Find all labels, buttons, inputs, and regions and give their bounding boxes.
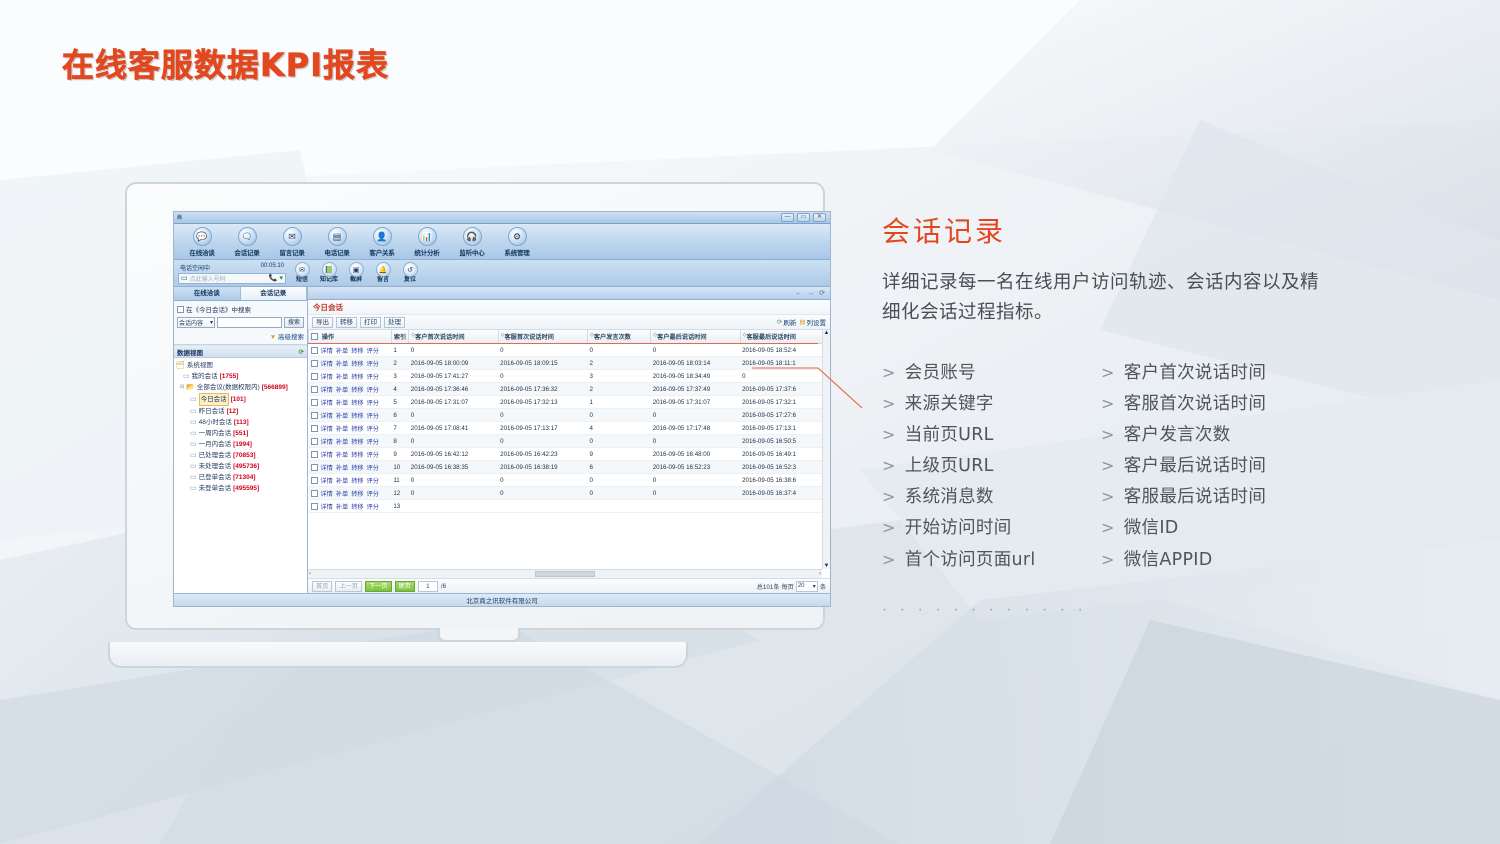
laptop-hinge xyxy=(438,628,520,642)
nav-label: 在线洽谈 xyxy=(180,247,224,257)
row-action-3[interactable]: 评分 xyxy=(367,372,379,381)
cell-actions[interactable]: 详情补单转移评分 xyxy=(309,474,392,487)
feature-label: 微信ID xyxy=(1124,513,1179,543)
row-checkbox[interactable] xyxy=(311,399,318,406)
row-action-3[interactable]: 评分 xyxy=(367,411,379,420)
nav-item-statistics[interactable]: 📊 统计分析 xyxy=(405,226,449,257)
tool-label: 截屏 xyxy=(344,277,368,284)
nav-label: 系统管理 xyxy=(495,247,539,257)
screenshot-button[interactable]: ▣ 截屏 xyxy=(344,262,368,284)
column-label: 客服首次说话时间 xyxy=(505,334,555,341)
main-panel: ← → ⟳ 今日会话 导出 转移 打印 处理 ⟳ xyxy=(308,287,830,593)
row-action-0[interactable]: 详情 xyxy=(321,424,333,433)
back-icon[interactable]: ← xyxy=(795,290,802,297)
tree-node-label: 今日会话 xyxy=(199,393,229,406)
feature-item-right: >客服首次说话时间 xyxy=(1101,389,1402,419)
tree-node-my-sessions[interactable]: ▭ 我的会话 [1755] xyxy=(176,371,305,382)
chat-bubble-icon: 💬 xyxy=(193,227,212,246)
cell-agent-first-speak: 2016-09-05 17:32:13 xyxy=(498,396,587,409)
feature-label: 微信APPID xyxy=(1124,545,1213,575)
horizontal-scrollbar[interactable]: ‹ › xyxy=(308,569,822,578)
row-action-3[interactable]: 评分 xyxy=(367,450,379,459)
feature-label: 会员账号 xyxy=(905,358,976,388)
tree-node-label: 全部会议(数据权限内) xyxy=(197,382,260,393)
call-timer: 00:05:10 xyxy=(261,263,284,272)
prev-page-button[interactable]: 上一页 xyxy=(335,581,362,592)
per-page-unit: 条 xyxy=(820,582,826,591)
nav-label: 会话记录 xyxy=(225,247,269,257)
nav-item-phone-record[interactable]: ▤ 电话记录 xyxy=(315,226,359,257)
row-action-3[interactable]: 评分 xyxy=(367,463,379,472)
select-all-checkbox[interactable] xyxy=(311,333,318,340)
feature-label: 客服最后说话时间 xyxy=(1124,482,1266,512)
sms-icon: ✉ xyxy=(295,262,310,277)
cell-cust-last-speak: 0 xyxy=(651,474,740,487)
left-panel: 在线洽谈 会话记录 在《今日会话》中搜索 会话内容 ▾ xyxy=(174,287,308,593)
row-checkbox[interactable] xyxy=(311,373,318,380)
table-row[interactable]: 详情补单转移评分13 xyxy=(309,500,830,513)
cell-cust-last-speak: 2016-09-05 17:17:48 xyxy=(651,422,740,435)
tree-node-label: 我的会话 xyxy=(192,371,218,382)
cell-index: 5 xyxy=(391,396,408,409)
search-button[interactable]: 搜索 xyxy=(284,317,304,328)
tree-node-today[interactable]: ▭ 今日会话 [101] xyxy=(176,393,305,406)
cell-agent-last-speak: 2016-09-05 18:52:4 xyxy=(740,344,829,357)
column-header-index[interactable]: 索引 xyxy=(391,330,408,344)
row-action-0[interactable]: 详情 xyxy=(321,372,333,381)
expand-toggle-icon[interactable]: ⊟ xyxy=(180,382,184,393)
main-toolbar: 导出 转移 打印 处理 ⟳ 刷新 ▤ 列设置 xyxy=(308,315,830,330)
feature-label: 来源关键字 xyxy=(905,389,994,419)
knowledge-base-button[interactable]: 📗 知记库 xyxy=(317,262,341,284)
callout-description: 详细记录每一名在线用户访问轨迹、会话内容以及精细化会话过程指标。 xyxy=(882,268,1337,328)
tree-node-registered[interactable]: ▭ 已登单会话 [71304] xyxy=(176,472,305,483)
column-header-agent-first-speak[interactable]: ◇客服首次说话时间 xyxy=(498,330,587,344)
column-header-cust-first-speak[interactable]: ◇客户首次说话时间 xyxy=(409,330,498,344)
tree-node-count: [495736] xyxy=(233,461,259,472)
row-checkbox[interactable] xyxy=(311,477,318,484)
nav-item-customer-relation[interactable]: 👤 客户关系 xyxy=(360,226,404,257)
row-action-3[interactable]: 评分 xyxy=(367,359,379,368)
vertical-scrollbar[interactable]: ▲ ▼ xyxy=(822,330,830,569)
header-underline xyxy=(308,343,818,344)
table-row[interactable]: 详情补单转移评分32016-09-05 17:41:27032016-09-05… xyxy=(309,370,830,383)
tree-node-count: [495595] xyxy=(233,483,259,494)
scroll-right-icon[interactable]: › xyxy=(819,571,821,577)
call-icon[interactable]: 📞 xyxy=(269,274,278,282)
keypad-icon: ▭ xyxy=(181,274,188,282)
row-action-2[interactable]: 转移 xyxy=(351,437,363,446)
column-header-actions[interactable]: 操作 xyxy=(309,330,392,344)
tree-node-root[interactable]: 🗂 系统视图 xyxy=(176,360,305,371)
column-header-agent-last-speak[interactable]: ◇客服最后说话时间 xyxy=(740,330,829,344)
cell-agent-last-speak: 2016-09-05 17:27:6 xyxy=(740,409,829,422)
table-row[interactable]: 详情补单转移评分800002016-09-05 16:50:5 xyxy=(309,435,830,448)
table-row[interactable]: 详情补单转移评分22016-09-05 18:00:092016-09-05 1… xyxy=(309,357,830,370)
row-action-3[interactable]: 评分 xyxy=(367,437,379,446)
cell-index: 7 xyxy=(391,422,408,435)
row-checkbox[interactable] xyxy=(311,347,318,354)
minimize-button[interactable]: — xyxy=(781,213,794,222)
cell-agent-first-speak: 0 xyxy=(498,370,587,383)
cell-actions[interactable]: 详情补单转移评分 xyxy=(309,383,392,396)
hscroll-thumb[interactable] xyxy=(535,571,595,577)
feature-item-left: >会员账号 xyxy=(882,358,1097,388)
reset-icon: ↺ xyxy=(403,262,418,277)
cell-cust-speak-count: 1 xyxy=(588,396,651,409)
funnel-icon: ▼ xyxy=(270,334,276,341)
cell-actions[interactable]: 详情补单转移评分 xyxy=(309,500,392,513)
first-page-button[interactable]: 首页 xyxy=(312,581,332,592)
voicemail-button[interactable]: 🔔 留言 xyxy=(371,262,395,284)
row-action-1[interactable]: 补单 xyxy=(336,372,348,381)
cell-actions[interactable]: 详情补单转移评分 xyxy=(309,357,392,370)
column-settings-label: 列设置 xyxy=(807,317,827,327)
cell-actions[interactable]: 详情补单转移评分 xyxy=(309,448,392,461)
tree-node-yesterday[interactable]: ▭ 昨日会话 [12] xyxy=(176,406,305,417)
row-action-2[interactable]: 转移 xyxy=(351,372,363,381)
tree-node-label: 系统视图 xyxy=(187,360,213,371)
cell-index: 8 xyxy=(391,435,408,448)
chevron-down-icon: ▾ xyxy=(210,319,213,326)
tool-label: 知记库 xyxy=(317,277,341,284)
row-checkbox[interactable] xyxy=(311,425,318,432)
app-logo: 商 xyxy=(177,214,182,221)
row-action-0[interactable]: 详情 xyxy=(321,502,333,511)
tab-online-chat[interactable]: 在线洽谈 xyxy=(174,287,241,300)
file-icon: ▭ xyxy=(190,406,197,417)
refresh-icon[interactable]: ⟳ xyxy=(819,289,825,297)
page-number-input[interactable]: 1 xyxy=(418,581,438,592)
table-row[interactable]: 详情补单转移评分72016-09-05 17:08:412016-09-05 1… xyxy=(309,422,830,435)
row-action-1[interactable]: 补单 xyxy=(336,463,348,472)
tree-node-all-sessions[interactable]: ⊟ 📂 全部会议(数据权限内) [566899] xyxy=(176,382,305,393)
phone-tool-buttons: ✉ 短信 📗 知记库 ▣ 截屏 🔔 留言 xyxy=(290,262,422,284)
main-panel-title: 今日会话 xyxy=(308,300,830,315)
cell-cust-last-speak: 0 xyxy=(651,435,740,448)
cell-agent-last-speak: 2016-09-05 17:32:1 xyxy=(740,396,829,409)
cell-index: 4 xyxy=(391,383,408,396)
application-window: 商 — ▭ ✕ 💬 在线洽谈 🗨 会话记录 ✉ xyxy=(174,212,830,606)
forward-icon[interactable]: → xyxy=(807,290,814,297)
cell-agent-first-speak: 0 xyxy=(498,409,587,422)
cell-cust-last-speak: 0 xyxy=(651,344,740,357)
nav-item-system-settings[interactable]: ⚙ 系统管理 xyxy=(495,226,539,257)
refresh-button[interactable]: ⟳ 刷新 xyxy=(777,317,796,327)
dropdown-caret-icon[interactable]: ▾ xyxy=(279,274,283,282)
row-checkbox[interactable] xyxy=(311,451,318,458)
cell-agent-first-speak: 2016-09-05 18:09:15 xyxy=(498,357,587,370)
search-scope-checkbox[interactable] xyxy=(177,306,184,313)
cell-cust-speak-count xyxy=(588,500,651,513)
data-view-title: 数据视图 xyxy=(177,347,203,357)
column-label: 客户首次说话时间 xyxy=(415,334,465,341)
folder-open-icon: 📂 xyxy=(186,382,195,393)
file-icon: ▭ xyxy=(190,394,197,405)
laptop-screen: 商 — ▭ ✕ 💬 在线洽谈 🗨 会话记录 ✉ xyxy=(173,211,831,607)
cell-agent-first-speak: 0 xyxy=(498,344,587,357)
file-icon: ▭ xyxy=(190,472,197,483)
row-checkbox[interactable] xyxy=(311,412,318,419)
cell-cust-first-speak: 0 xyxy=(409,344,498,357)
cell-index: 9 xyxy=(391,448,408,461)
row-action-1[interactable]: 补单 xyxy=(336,437,348,446)
chevron-right-icon: > xyxy=(882,514,896,542)
advanced-search-link[interactable]: ▼ 高级搜索 xyxy=(177,331,304,341)
row-action-2[interactable]: 转移 xyxy=(351,476,363,485)
phone-record-icon: ▤ xyxy=(328,227,347,246)
row-action-0[interactable]: 详情 xyxy=(321,437,333,446)
cell-agent-last-speak: 2016-09-05 16:50:5 xyxy=(740,435,829,448)
cell-cust-speak-count: 9 xyxy=(588,448,651,461)
maximize-button[interactable]: ▭ xyxy=(797,213,810,222)
search-input[interactable] xyxy=(217,317,282,328)
row-action-2[interactable]: 转移 xyxy=(351,359,363,368)
feature-label: 客户发言次数 xyxy=(1124,420,1231,450)
laptop-lid: 商 — ▭ ✕ 💬 在线洽谈 🗨 会话记录 ✉ xyxy=(125,182,825,630)
pagination-bar: 首页 上一页 下一页 尾页 1 /6 总101条 每页 20 xyxy=(308,578,830,593)
row-checkbox[interactable] xyxy=(311,438,318,445)
cell-agent-last-speak: 2016-09-05 18:11:1 xyxy=(740,357,829,370)
cell-cust-first-speak: 2016-09-05 17:36:46 xyxy=(409,383,498,396)
row-action-0[interactable]: 详情 xyxy=(321,411,333,420)
tree-node-handled[interactable]: ▭ 已处理会话 [70853] xyxy=(176,450,305,461)
row-action-1[interactable]: 补单 xyxy=(336,502,348,511)
row-action-3[interactable]: 评分 xyxy=(367,346,379,355)
cell-cust-first-speak: 0 xyxy=(409,487,498,500)
export-button[interactable]: 导出 xyxy=(312,317,333,328)
per-page-select[interactable]: 20 ▾ xyxy=(796,581,818,592)
feature-label: 客户首次说话时间 xyxy=(1124,358,1266,388)
row-action-2[interactable]: 转移 xyxy=(351,398,363,407)
row-action-0[interactable]: 详情 xyxy=(321,398,333,407)
feature-item-left: >开始访问时间 xyxy=(882,513,1097,543)
search-field-select[interactable]: 会话内容 ▾ xyxy=(177,317,215,328)
cell-actions[interactable]: 详情补单转移评分 xyxy=(309,370,392,383)
table-row[interactable]: 详情补单转移评分102016-09-05 16:38:352016-09-05 … xyxy=(309,461,830,474)
tree-node-label: 昨日会话 xyxy=(199,406,225,417)
table-row[interactable]: 详情补单转移评分600002016-09-05 17:27:6 xyxy=(309,409,830,422)
nav-label: 监听中心 xyxy=(450,247,494,257)
print-button[interactable]: 打印 xyxy=(360,317,381,328)
phone-input-placeholder: 点此输入号码 xyxy=(190,274,267,283)
sms-button[interactable]: ✉ 短信 xyxy=(290,262,314,284)
row-action-2[interactable]: 转移 xyxy=(351,502,363,511)
data-view-header: 数据视图 ⟳ xyxy=(174,345,307,358)
tree-node-label: 48小时会话 xyxy=(199,417,232,428)
row-action-3[interactable]: 评分 xyxy=(367,502,379,511)
transfer-button[interactable]: 转移 xyxy=(336,317,357,328)
row-action-1[interactable]: 补单 xyxy=(336,346,348,355)
cell-cust-speak-count: 2 xyxy=(588,357,651,370)
column-settings-button[interactable]: ▤ 列设置 xyxy=(799,317,826,327)
cell-agent-last-speak: 0 xyxy=(740,370,829,383)
cell-cust-speak-count: 2 xyxy=(588,383,651,396)
cell-index: 12 xyxy=(391,487,408,500)
cell-cust-first-speak: 0 xyxy=(409,409,498,422)
refresh-tree-icon[interactable]: ⟳ xyxy=(299,348,304,356)
row-action-2[interactable]: 转移 xyxy=(351,463,363,472)
tool-label: 复位 xyxy=(398,277,422,284)
row-action-0[interactable]: 详情 xyxy=(321,346,333,355)
process-button[interactable]: 处理 xyxy=(384,317,405,328)
cell-agent-last-speak: 2016-09-05 17:37:6 xyxy=(740,383,829,396)
feature-item-left: >上级页URL xyxy=(882,451,1097,481)
row-action-2[interactable]: 转移 xyxy=(351,489,363,498)
cell-cust-first-speak: 2016-09-05 18:00:09 xyxy=(409,357,498,370)
table-row[interactable]: 详情补单转移评分1100002016-09-05 16:38:6 xyxy=(309,474,830,487)
feature-item-right: >客服最后说话时间 xyxy=(1101,482,1402,512)
tree-node-count: [551] xyxy=(233,428,248,439)
cell-agent-last-speak: 2016-09-05 17:13:1 xyxy=(740,422,829,435)
table-row[interactable]: 详情补单转移评分42016-09-05 17:36:462016-09-05 1… xyxy=(309,383,830,396)
row-action-0[interactable]: 详情 xyxy=(321,463,333,472)
tool-label: 短信 xyxy=(290,277,314,284)
cell-cust-last-speak: 2016-09-05 17:31:07 xyxy=(651,396,740,409)
row-action-3[interactable]: 评分 xyxy=(367,489,379,498)
table-row[interactable]: 详情补单转移评分100002016-09-05 18:52:4 xyxy=(309,344,830,357)
page-title: 在线客服数据KPI报表 xyxy=(62,40,389,86)
row-checkbox[interactable] xyxy=(311,360,318,367)
cell-cust-speak-count: 0 xyxy=(588,474,651,487)
next-page-button[interactable]: 下一页 xyxy=(365,581,392,592)
close-button[interactable]: ✕ xyxy=(813,213,826,222)
columns-icon: ▤ xyxy=(799,318,805,326)
row-action-3[interactable]: 评分 xyxy=(367,385,379,394)
total-pages-label: /6 xyxy=(441,583,446,590)
row-checkbox[interactable] xyxy=(311,503,318,510)
statistics-icon: 📊 xyxy=(418,227,437,246)
row-action-2[interactable]: 转移 xyxy=(351,346,363,355)
folder-icon: 🗂 xyxy=(176,360,185,371)
nav-item-session-record[interactable]: 🗨 会话记录 xyxy=(225,226,269,257)
feature-list: >会员账号>客户首次说话时间>来源关键字>客服首次说话时间>当前页URL>客户发… xyxy=(882,358,1402,575)
row-action-1[interactable]: 补单 xyxy=(336,424,348,433)
laptop-base xyxy=(108,642,688,668)
row-action-0[interactable]: 详情 xyxy=(321,489,333,498)
cell-agent-first-speak: 2016-09-05 16:42:23 xyxy=(498,448,587,461)
cell-cust-last-speak: 2016-09-05 16:48:00 xyxy=(651,448,740,461)
cell-cust-speak-count: 0 xyxy=(588,409,651,422)
row-action-0[interactable]: 详情 xyxy=(321,385,333,394)
cell-actions[interactable]: 详情补单转移评分 xyxy=(309,396,392,409)
cell-actions[interactable]: 详情补单转移评分 xyxy=(309,422,392,435)
row-action-1[interactable]: 补单 xyxy=(336,411,348,420)
chevron-right-icon: > xyxy=(1101,483,1115,511)
feature-item-left: >当前页URL xyxy=(882,420,1097,450)
left-panel-tabs: 在线洽谈 会话记录 xyxy=(174,287,307,301)
row-action-1[interactable]: 补单 xyxy=(336,398,348,407)
row-action-2[interactable]: 转移 xyxy=(351,450,363,459)
cell-cust-first-speak: 2016-09-05 17:31:07 xyxy=(409,396,498,409)
row-action-1[interactable]: 补单 xyxy=(336,359,348,368)
row-checkbox[interactable] xyxy=(311,464,318,471)
file-icon: ▭ xyxy=(183,371,190,382)
row-action-3[interactable]: 评分 xyxy=(367,398,379,407)
ellipsis-dots: · · · · · · · · · · · · xyxy=(882,601,1402,619)
search-panel: 在《今日会话》中搜索 会话内容 ▾ 搜索 xyxy=(174,301,307,345)
nav-item-monitor-center[interactable]: 🎧 监听中心 xyxy=(450,226,494,257)
tree-node-count: [566899] xyxy=(262,382,288,393)
row-action-3[interactable]: 评分 xyxy=(367,424,379,433)
tab-session-record[interactable]: 会话记录 xyxy=(241,287,308,300)
column-header-cust-last-speak[interactable]: ◇客户最后说话时间 xyxy=(651,330,740,344)
scroll-up-icon[interactable]: ▲ xyxy=(824,330,830,336)
row-action-1[interactable]: 补单 xyxy=(336,476,348,485)
cell-cust-speak-count: 0 xyxy=(588,344,651,357)
cell-actions[interactable]: 详情补单转移评分 xyxy=(309,461,392,474)
last-page-button[interactable]: 尾页 xyxy=(395,581,415,592)
row-action-3[interactable]: 评分 xyxy=(367,476,379,485)
column-header-cust-speak-count[interactable]: ◇客户发言次数 xyxy=(588,330,651,344)
row-action-0[interactable]: 详情 xyxy=(321,476,333,485)
cell-actions[interactable]: 详情补单转移评分 xyxy=(309,409,392,422)
nav-label: 统计分析 xyxy=(405,247,449,257)
tree-node-count: [71304] xyxy=(233,472,255,483)
tree-node-count: [113] xyxy=(234,417,249,428)
voicemail-icon: 🔔 xyxy=(376,262,391,277)
reset-button[interactable]: ↺ 复位 xyxy=(398,262,422,284)
row-action-2[interactable]: 转移 xyxy=(351,411,363,420)
cell-cust-last-speak: 2016-09-05 16:52:23 xyxy=(651,461,740,474)
cell-cust-first-speak: 0 xyxy=(409,435,498,448)
scroll-down-icon[interactable]: ▼ xyxy=(824,563,830,569)
scroll-left-icon[interactable]: ‹ xyxy=(309,571,311,577)
tree-node-unhandled[interactable]: ▭ 未处理会话 [495736] xyxy=(176,461,305,472)
table-row[interactable]: 详情补单转移评分52016-09-05 17:31:072016-09-05 1… xyxy=(309,396,830,409)
tree-node-week[interactable]: ▭ 一周内会话 [551] xyxy=(176,428,305,439)
monitor-center-icon: 🎧 xyxy=(463,227,482,246)
tree-node-unregistered[interactable]: ▭ 未登单会话 [495595] xyxy=(176,483,305,494)
cell-actions[interactable]: 详情补单转移评分 xyxy=(309,435,392,448)
nav-item-message-record[interactable]: ✉ 留言记录 xyxy=(270,226,314,257)
cell-agent-first-speak: 0 xyxy=(498,474,587,487)
row-action-1[interactable]: 补单 xyxy=(336,385,348,394)
feature-item-right: >客户发言次数 xyxy=(1101,420,1402,450)
row-checkbox[interactable] xyxy=(311,386,318,393)
row-action-0[interactable]: 详情 xyxy=(321,450,333,459)
phone-number-input[interactable]: ▭ 点此输入号码 📞 ▾ xyxy=(178,273,286,284)
row-action-2[interactable]: 转移 xyxy=(351,424,363,433)
cell-cust-first-speak: 2016-09-05 16:42:12 xyxy=(409,448,498,461)
table-row[interactable]: 详情补单转移评分1200002016-09-05 16:37:4 xyxy=(309,487,830,500)
row-checkbox[interactable] xyxy=(311,490,318,497)
row-action-0[interactable]: 详情 xyxy=(321,359,333,368)
message-record-icon: ✉ xyxy=(283,227,302,246)
column-label: 客服最后说话时间 xyxy=(746,334,796,341)
file-icon: ▭ xyxy=(190,461,197,472)
nav-item-online-chat[interactable]: 💬 在线洽谈 xyxy=(180,226,224,257)
feature-label: 客服首次说话时间 xyxy=(1124,389,1266,419)
feature-item-right: >微信ID xyxy=(1101,513,1402,543)
cell-actions[interactable]: 详情补单转移评分 xyxy=(309,344,392,357)
tree-node-month[interactable]: ▭ 一月内会话 [1994] xyxy=(176,439,305,450)
row-action-2[interactable]: 转移 xyxy=(351,385,363,394)
cell-agent-last-speak xyxy=(740,500,829,513)
tree-node-label: 一周内会话 xyxy=(199,428,232,439)
row-action-1[interactable]: 补单 xyxy=(336,489,348,498)
row-action-1[interactable]: 补单 xyxy=(336,450,348,459)
feature-item-right: >微信APPID xyxy=(1101,545,1402,575)
feature-label: 上级页URL xyxy=(905,451,994,481)
chevron-right-icon: > xyxy=(1101,390,1115,418)
tree-node-48h[interactable]: ▭ 48小时会话 [113] xyxy=(176,417,305,428)
tree-node-label: 未处理会话 xyxy=(199,461,232,472)
cell-actions[interactable]: 详情补单转移评分 xyxy=(309,487,392,500)
file-icon: ▭ xyxy=(190,439,197,450)
per-page-label: 每页 xyxy=(781,582,793,591)
table-row[interactable]: 详情补单转移评分92016-09-05 16:42:122016-09-05 1… xyxy=(309,448,830,461)
